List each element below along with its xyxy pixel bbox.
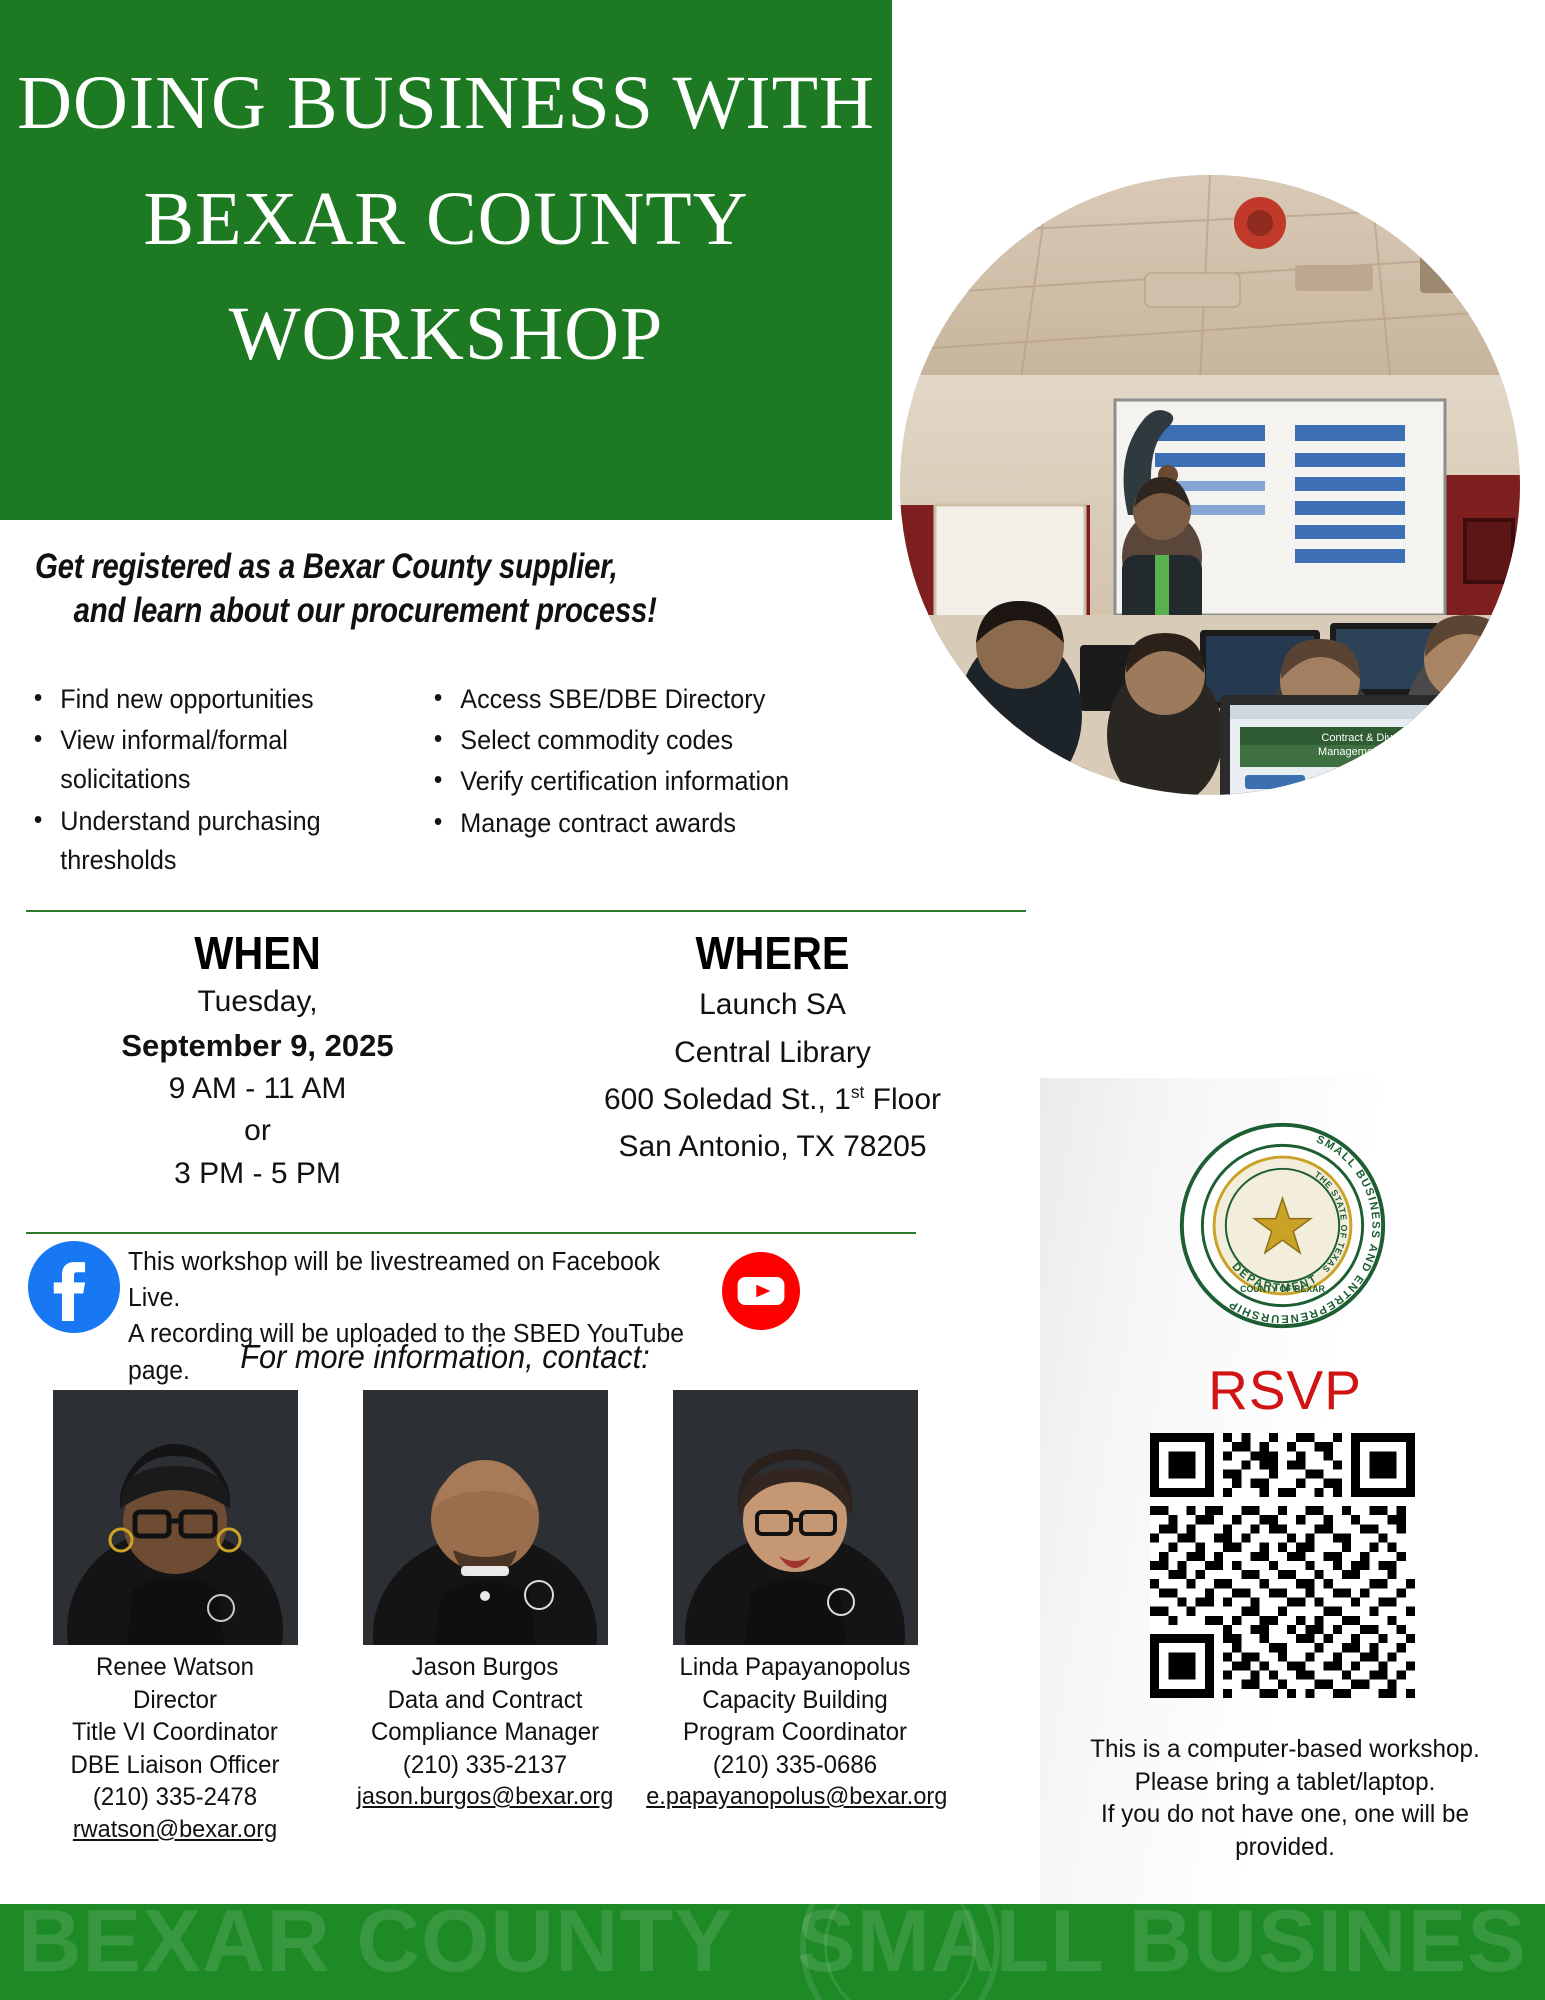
workshop-photo: Contract & Diversity Management System bbox=[900, 175, 1520, 795]
where-street-suffix: Floor bbox=[864, 1083, 941, 1116]
when-date: September 9, 2025 bbox=[0, 1024, 515, 1068]
svg-text:COUNTY OF BEXAR: COUNTY OF BEXAR bbox=[1240, 1284, 1325, 1294]
youtube-icon[interactable] bbox=[722, 1252, 800, 1330]
where-building: Central Library bbox=[515, 1029, 1030, 1076]
list-item: Understand purchasing thresholds bbox=[28, 802, 391, 880]
benefits-column-left: Find new opportunities View informal/for… bbox=[0, 680, 410, 882]
where-city-state-zip: San Antonio, TX 78205 bbox=[515, 1123, 1030, 1170]
footer-watermark-text: BEXAR COUNTY SMALL BUSINES bbox=[0, 1904, 1545, 1992]
subtitle-line-1: Get registered as a Bexar County supplie… bbox=[30, 545, 744, 589]
contact-title: Title VI Coordinator bbox=[26, 1716, 324, 1749]
facebook-icon[interactable] bbox=[28, 1241, 120, 1333]
avatar bbox=[363, 1390, 608, 1645]
divider-mid bbox=[26, 1232, 916, 1234]
where-street-ordinal: st bbox=[851, 1082, 865, 1102]
rsvp-note-line-2: Please bring a tablet/laptop. bbox=[1059, 1766, 1511, 1799]
livestream-line-1: This workshop will be livestreamed on Fa… bbox=[128, 1244, 710, 1316]
contact-title: Director bbox=[26, 1684, 324, 1717]
title-line-1: DOING BUSINESS WITH bbox=[0, 46, 892, 162]
avatar-illustration bbox=[363, 1390, 608, 1645]
where-heading: WHERE bbox=[541, 925, 1005, 981]
subtitle: Get registered as a Bexar County supplie… bbox=[30, 545, 744, 633]
when-column: WHEN Tuesday, September 9, 2025 9 AM - 1… bbox=[0, 925, 515, 1196]
contact-phone: (210) 335-0686 bbox=[646, 1749, 944, 1782]
contact-email[interactable]: e.papayanopolus@bexar.org bbox=[646, 1781, 944, 1813]
contact-title: Compliance Manager bbox=[336, 1716, 634, 1749]
when-heading: WHEN bbox=[26, 925, 490, 981]
list-item: Manage contract awards bbox=[428, 804, 838, 843]
contact-email[interactable]: rwatson@bexar.org bbox=[26, 1814, 324, 1846]
contact-card-renee-watson: Renee Watson Director Title VI Coordinat… bbox=[20, 1390, 330, 1845]
benefits-column-right: Access SBE/DBE Directory Select commodit… bbox=[410, 680, 860, 882]
when-session-2: 3 PM - 5 PM bbox=[0, 1153, 515, 1196]
flyer-page: DOING BUSINESS WITH BEXAR COUNTY WORKSHO… bbox=[0, 0, 1545, 2000]
footer-left-text: BEXAR COUNTY bbox=[18, 1904, 734, 1992]
contact-email[interactable]: jason.burgos@bexar.org bbox=[336, 1781, 634, 1813]
contact-title: Data and Contract bbox=[336, 1684, 634, 1717]
list-item: Select commodity codes bbox=[428, 721, 838, 760]
divider-top bbox=[26, 910, 1026, 912]
contact-heading: For more information, contact: bbox=[31, 1338, 859, 1376]
rsvp-label: RSVP bbox=[1040, 1358, 1530, 1422]
avatar-illustration bbox=[53, 1390, 298, 1645]
when-day: Tuesday, bbox=[0, 981, 515, 1024]
where-street: 600 Soledad St., 1st Floor bbox=[515, 1076, 1030, 1123]
rsvp-panel: SMALL BUSINESS AND ENTREPRENEURSHIP DEPA… bbox=[1040, 1078, 1530, 1915]
list-item: Verify certification information bbox=[428, 762, 838, 801]
when-where-section: WHEN Tuesday, September 9, 2025 9 AM - 1… bbox=[0, 925, 1030, 1196]
when-separator: or bbox=[0, 1110, 515, 1153]
title-line-3: WORKSHOP bbox=[0, 277, 892, 393]
avatar-illustration bbox=[673, 1390, 918, 1645]
rsvp-note-line-4: provided. bbox=[1059, 1831, 1511, 1864]
rsvp-qr-code[interactable] bbox=[1150, 1433, 1415, 1698]
subtitle-line-2: and learn about our procurement process! bbox=[30, 589, 744, 633]
list-item: Find new opportunities bbox=[28, 680, 391, 719]
contact-name: Jason Burgos bbox=[336, 1651, 634, 1684]
contact-phone: (210) 335-2478 bbox=[26, 1781, 324, 1814]
header-banner: DOING BUSINESS WITH BEXAR COUNTY WORKSHO… bbox=[0, 0, 892, 520]
contact-name: Renee Watson bbox=[26, 1651, 324, 1684]
when-session-1: 9 AM - 11 AM bbox=[0, 1068, 515, 1111]
list-item: View informal/formal solicitations bbox=[28, 721, 391, 799]
page-title: DOING BUSINESS WITH BEXAR COUNTY WORKSHO… bbox=[0, 46, 892, 393]
title-line-2: BEXAR COUNTY bbox=[0, 162, 892, 278]
where-venue: Launch SA bbox=[515, 981, 1030, 1028]
svg-text:Contract & Diversity: Contract & Diversity bbox=[1321, 732, 1419, 744]
avatar bbox=[673, 1390, 918, 1645]
rsvp-note: This is a computer-based workshop. Pleas… bbox=[1059, 1733, 1511, 1863]
contact-card-jason-burgos: Jason Burgos Data and Contract Complianc… bbox=[330, 1390, 640, 1845]
rsvp-note-line-3: If you do not have one, one will be bbox=[1059, 1798, 1511, 1831]
contacts-section: Renee Watson Director Title VI Coordinat… bbox=[20, 1390, 1020, 1845]
contact-name: Linda Papayanopolus bbox=[646, 1651, 944, 1684]
footer-right-text: SMALL BUSINES bbox=[797, 1904, 1527, 1992]
footer-banner: BEXAR COUNTY SMALL BUSINES bbox=[0, 1904, 1545, 2000]
list-item: Access SBE/DBE Directory bbox=[428, 680, 838, 719]
contact-title: Program Coordinator bbox=[646, 1716, 944, 1749]
avatar bbox=[53, 1390, 298, 1645]
svg-text:Management System: Management System bbox=[1318, 746, 1422, 758]
county-seal-icon: SMALL BUSINESS AND ENTREPRENEURSHIP DEPA… bbox=[1175, 1118, 1390, 1333]
where-street-prefix: 600 Soledad St., 1 bbox=[604, 1083, 851, 1116]
contact-phone: (210) 335-2137 bbox=[336, 1749, 634, 1782]
contact-title: Capacity Building bbox=[646, 1684, 944, 1717]
livestream-section: This workshop will be livestreamed on Fa… bbox=[0, 1238, 1030, 1343]
contact-card-linda-papayanopolus: Linda Papayanopolus Capacity Building Pr… bbox=[640, 1390, 950, 1845]
benefits-list: Find new opportunities View informal/for… bbox=[0, 680, 900, 882]
contact-title: DBE Liaison Officer bbox=[26, 1749, 324, 1782]
where-column: WHERE Launch SA Central Library 600 Sole… bbox=[515, 925, 1030, 1196]
rsvp-note-line-1: This is a computer-based workshop. bbox=[1059, 1733, 1511, 1766]
workshop-photo-illustration: Contract & Diversity Management System bbox=[900, 175, 1520, 795]
